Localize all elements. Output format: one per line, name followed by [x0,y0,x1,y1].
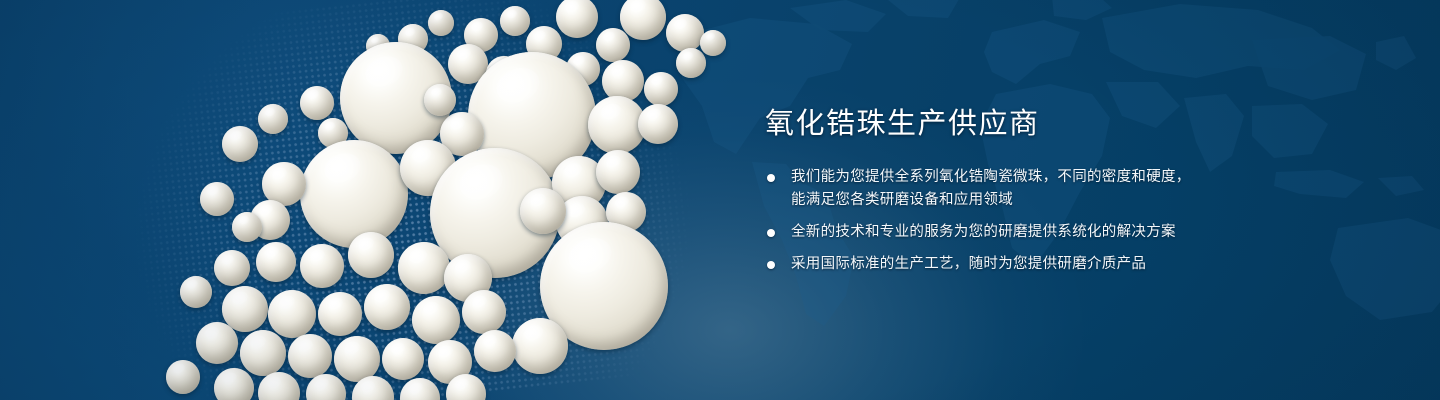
bullet-item: 我们能为您提供全系列氧化锆陶瓷微珠，不同的密度和硬度，能满足您各类研磨设备和应用… [765,166,1205,212]
bullet-text: 采用国际标准的生产工艺，随时为您提供研磨介质产品 [791,256,1146,272]
banner-headline: 氧化锆珠生产供应商 [765,108,1285,141]
bullet-dot-icon [767,229,775,237]
bullet-text: 我们能为您提供全系列氧化锆陶瓷微珠，不同的密度和硬度，能满足您各类研磨设备和应用… [791,169,1191,208]
bullet-dot-icon [767,174,775,182]
bullet-dot-icon [767,261,775,269]
banner-copy-block: 氧化锆珠生产供应商 我们能为您提供全系列氧化锆陶瓷微珠，不同的密度和硬度，能满足… [765,108,1285,285]
bullet-text: 全新的技术和专业的服务为您的研磨提供系统化的解决方案 [791,224,1176,240]
banner-bullet-list: 我们能为您提供全系列氧化锆陶瓷微珠，不同的密度和硬度，能满足您各类研磨设备和应用… [765,166,1285,276]
bullet-item: 全新的技术和专业的服务为您的研磨提供系统化的解决方案 [765,221,1205,244]
product-hero-banner: 氧化锆珠生产供应商 我们能为您提供全系列氧化锆陶瓷微珠，不同的密度和硬度，能满足… [0,0,1440,400]
bullet-item: 采用国际标准的生产工艺，随时为您提供研磨介质产品 [765,253,1205,276]
